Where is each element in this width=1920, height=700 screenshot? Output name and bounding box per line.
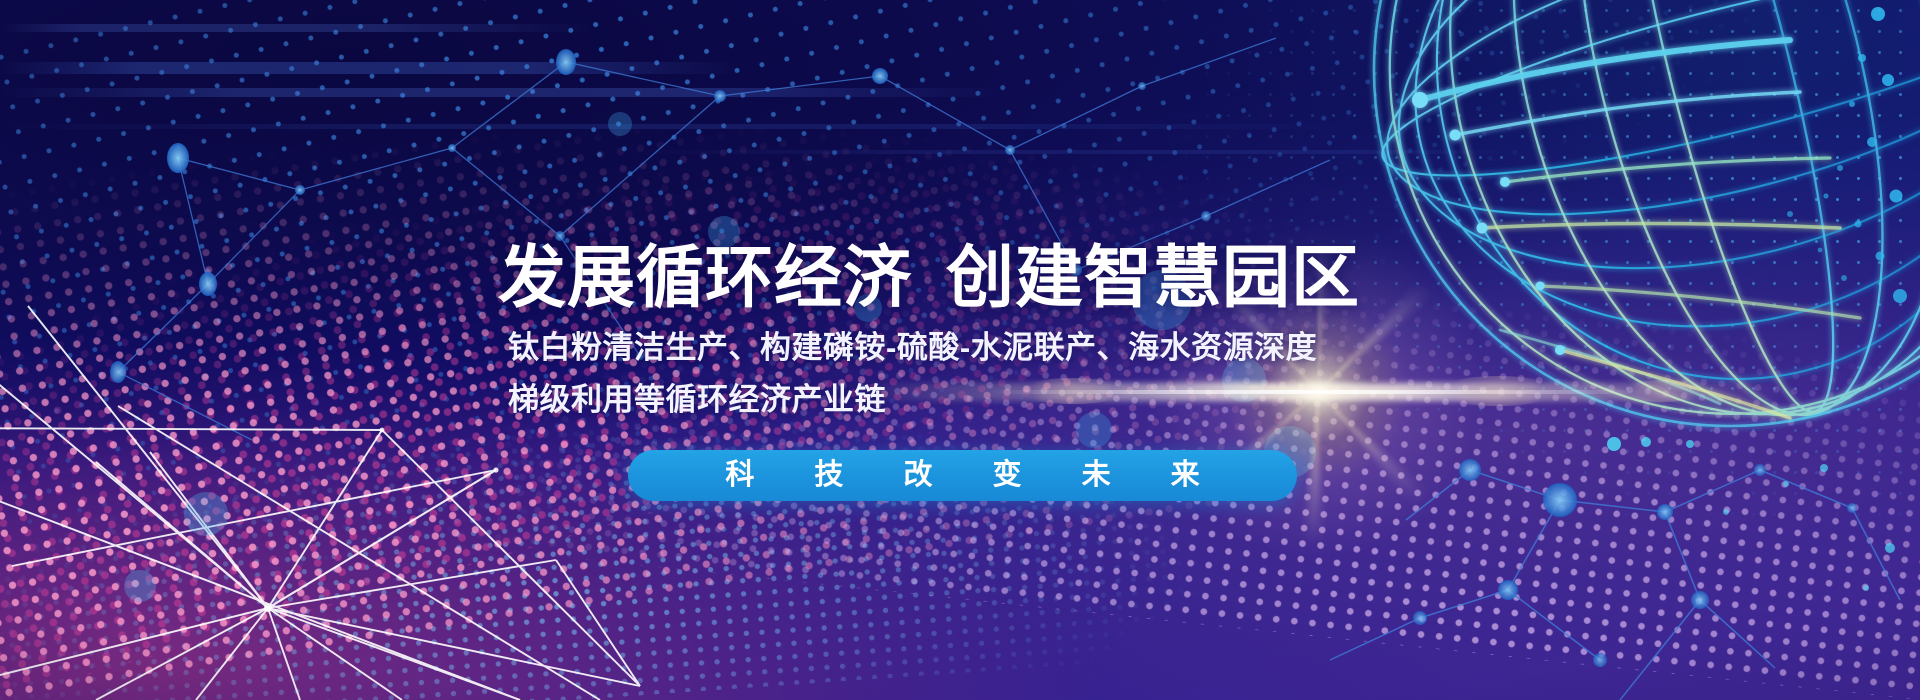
- page-title: 发展循环经济创建智慧园区: [498, 244, 1360, 312]
- banner-content: 发展循环经济创建智慧园区 钛白粉清洁生产、构建磷铵-硫酸-水泥联产、海水资源深度…: [0, 0, 1920, 700]
- headline-part-2: 创建智慧园区: [946, 240, 1360, 316]
- tech-hero-banner: 发展循环经济创建智慧园区 钛白粉清洁生产、构建磷铵-硫酸-水泥联产、海水资源深度…: [0, 0, 1920, 700]
- headline-part-1: 发展循环经济: [498, 240, 912, 316]
- subtitle-line-2: 梯级利用等循环经济产业链: [508, 374, 1317, 426]
- slogan-cta-label: 科 技 改 变 未 来: [699, 461, 1225, 490]
- subtitle: 钛白粉清洁生产、构建磷铵-硫酸-水泥联产、海水资源深度 梯级利用等循环经济产业链: [508, 322, 1317, 426]
- subtitle-line-1: 钛白粉清洁生产、构建磷铵-硫酸-水泥联产、海水资源深度: [508, 322, 1317, 374]
- slogan-cta-button[interactable]: 科 技 改 变 未 来: [628, 450, 1297, 501]
